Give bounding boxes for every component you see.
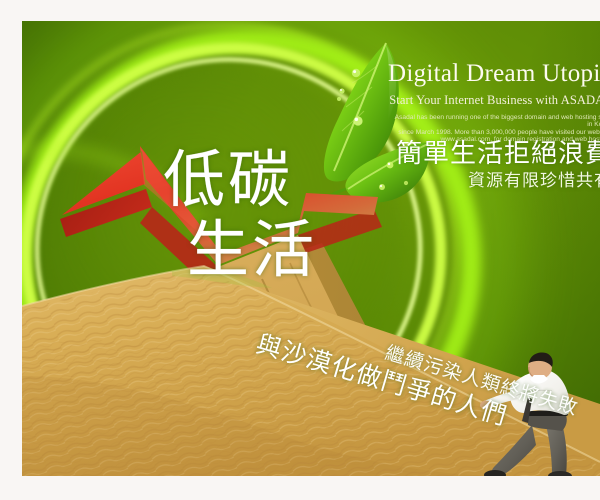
brand-subtitle: Start Your Internet Business with ASADAL <box>388 92 600 109</box>
english-text-block: Digital Dream Utopia Start Your Internet… <box>388 59 600 144</box>
poster-frame: 低碳 生活 Digital Dream Utopia Start Your In… <box>0 0 600 500</box>
brand-paragraph-line-2: since March 1998. More than 3,000,000 pe… <box>388 129 600 136</box>
eco-poster: 低碳 生活 Digital Dream Utopia Start Your In… <box>22 21 600 476</box>
brand-paragraph-line-1: Asadal has been running one of the bigge… <box>388 114 600 129</box>
page-title: 低碳 生活 <box>163 145 363 285</box>
brand-title: Digital Dream Utopia <box>388 59 600 89</box>
chinese-slogan-line-1: 簡單生活拒絕浪費 <box>378 139 600 169</box>
headline-line-1: 低碳 <box>163 143 293 216</box>
headline-line-2: 生活 <box>187 215 363 285</box>
man-front-shoe <box>548 471 572 476</box>
chinese-slogan-line-2: 資源有限珍惜共有 <box>378 170 600 192</box>
chinese-slogan-block: 簡單生活拒絕浪費 資源有限珍惜共有 <box>378 139 600 192</box>
